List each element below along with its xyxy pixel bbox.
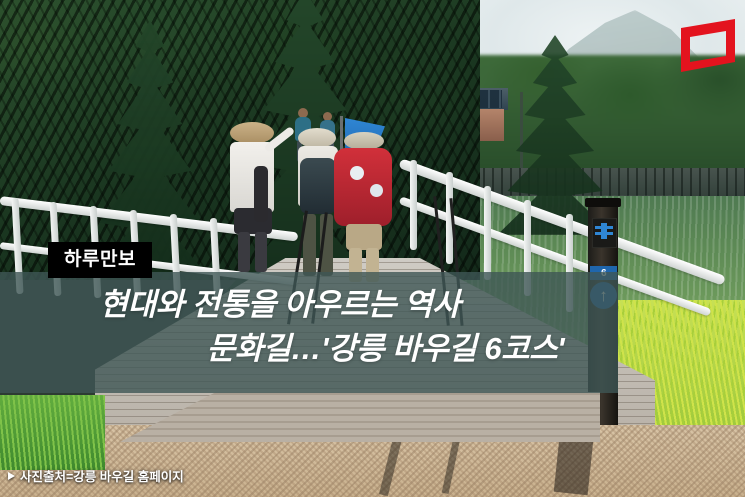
grass-patch-left — [0, 395, 105, 470]
red-backpack — [334, 148, 392, 226]
trail-sign-plate — [592, 218, 617, 248]
hiker-foreground-red-backpack — [330, 132, 400, 282]
caption-text: 사진출처=강릉 바우길 홈페이지 — [20, 466, 184, 485]
headline: 현대와 전통을 아우르는 역사 문화길…'강릉 바우길 6코스' — [0, 283, 600, 371]
photo-card: 6 ↑ 하루만보 현대와 전통을 아우르는 역사 문화길…'강릉 바우길 6코스… — [0, 0, 745, 497]
photo-credit-caption: 사진출처=강릉 바우길 홈페이지 — [8, 466, 184, 485]
caption-arrow-icon — [8, 472, 15, 480]
category-badge[interactable]: 하루만보 — [48, 242, 152, 278]
trail-symbol-icon — [601, 223, 607, 239]
headline-line-1: 현대와 전통을 아우르는 역사 — [0, 283, 564, 327]
headline-line-2: 문화길…'강릉 바우길 6코스' — [0, 327, 564, 371]
post-cap — [585, 198, 621, 207]
hiker-foreground-left — [218, 122, 288, 272]
straw-hat — [230, 122, 274, 144]
red-quadrilateral-logo[interactable] — [679, 17, 737, 74]
